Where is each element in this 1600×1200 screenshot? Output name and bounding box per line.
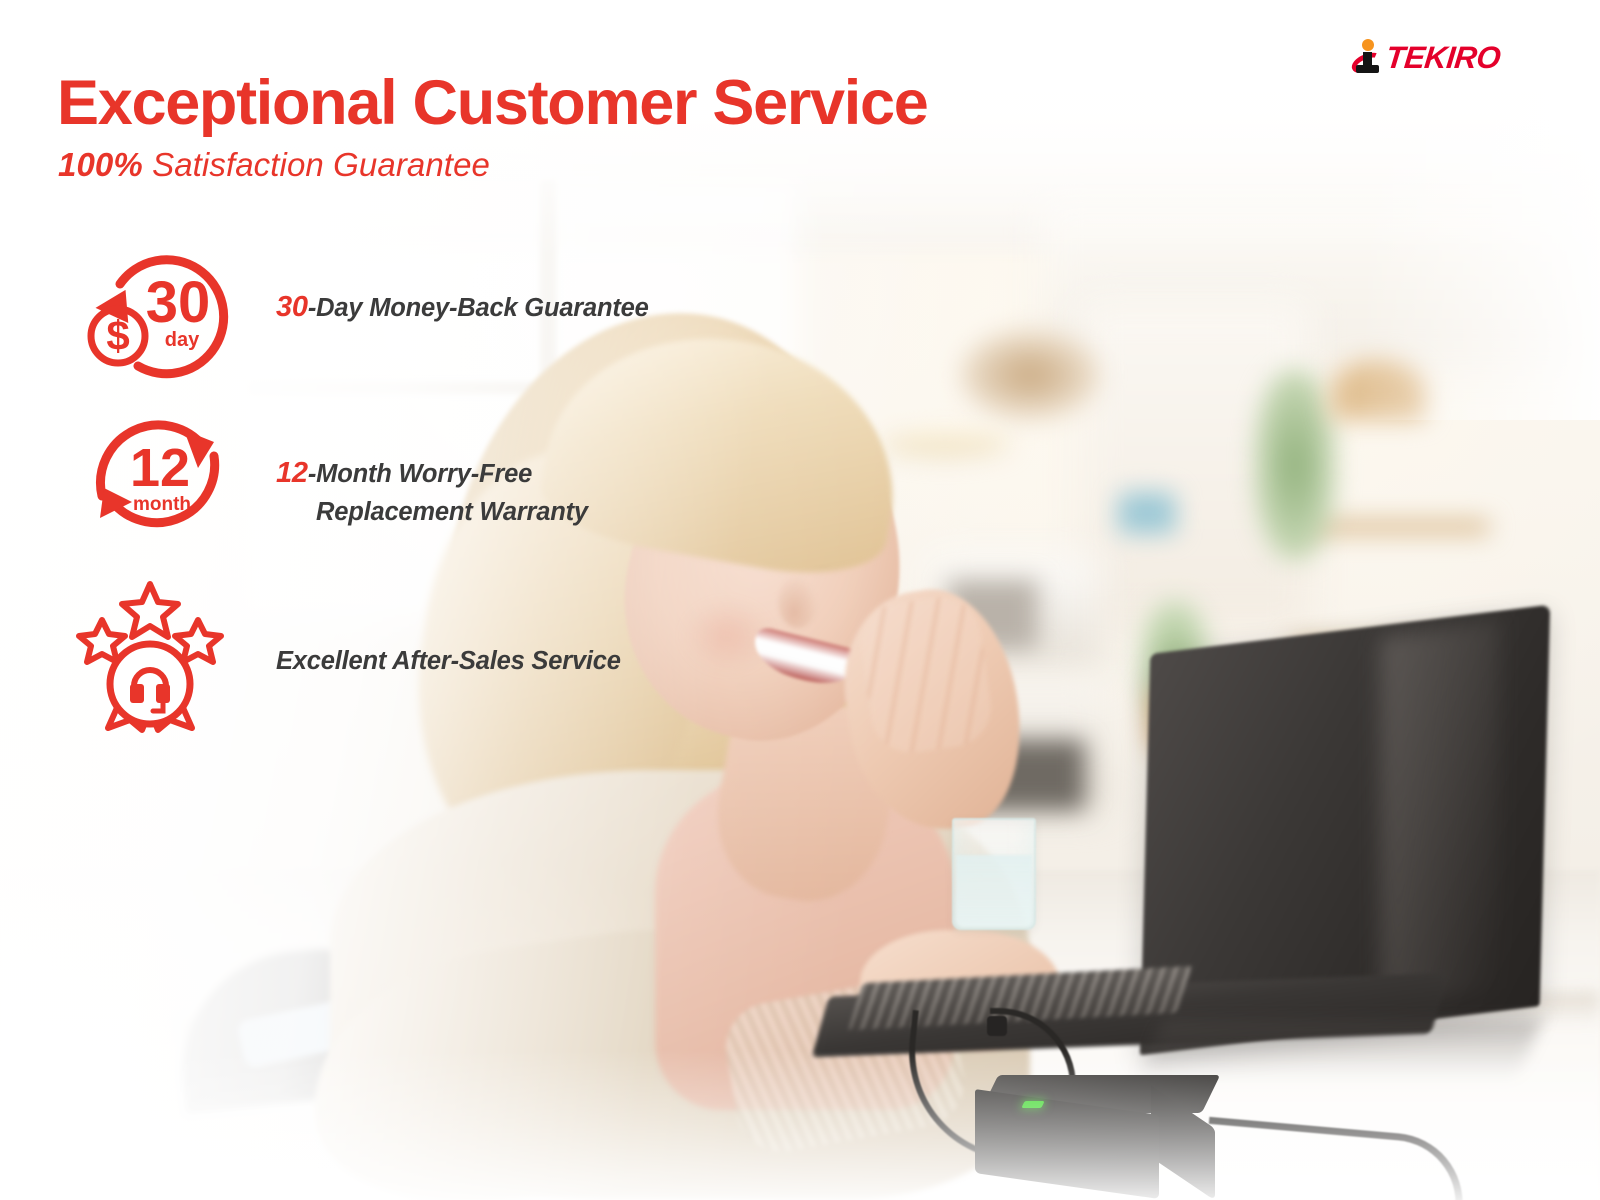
page-title: Exceptional Customer Service	[57, 72, 927, 135]
feature-label-warranty: 12-Month Worry-Free Replacement Warranty	[276, 452, 588, 531]
after-sales-service-badge-icon	[80, 580, 245, 730]
star-icon	[122, 584, 178, 637]
dollar-symbol: $	[106, 312, 129, 359]
icon-unit: month	[133, 494, 191, 515]
feature-highlight: 30	[276, 291, 308, 323]
brand-logo: TEKIRO	[1352, 38, 1500, 78]
icon-number: 12	[130, 438, 190, 498]
feature-text: -Day Money-Back Guarantee	[308, 294, 649, 322]
money-back-30-day-icon: $ 30 day	[80, 240, 245, 390]
feature-after-sales	[80, 580, 245, 730]
feature-text: -Month Worry-Free	[308, 460, 532, 488]
medal-circle	[110, 644, 190, 724]
headset-earcup-left	[130, 684, 144, 703]
logo-base	[1356, 65, 1379, 73]
feature-text: Excellent After-Sales Service	[276, 647, 621, 675]
headset-earcup-right	[156, 684, 170, 703]
feature-money-back: $ 30 day	[80, 240, 245, 390]
feature-warranty: 12 month	[80, 400, 245, 550]
content-layer: TEKIRO Exceptional Customer Service 100%…	[0, 0, 1600, 1200]
feature-label-money-back: 30-Day Money-Back Guarantee	[276, 286, 649, 328]
logo-stem	[1363, 52, 1372, 66]
icon-number: 30	[146, 270, 211, 335]
subtitle-rest: Satisfaction Guarantee	[143, 146, 490, 183]
subtitle-highlight: 100%	[58, 146, 143, 183]
feature-text-line2: Replacement Warranty	[276, 494, 588, 531]
logo-dot	[1362, 39, 1374, 51]
page-subtitle: 100% Satisfaction Guarantee	[58, 146, 490, 184]
logo-wordmark: TEKIRO	[1384, 40, 1502, 76]
replacement-warranty-12-month-icon: 12 month	[80, 400, 245, 550]
feature-label-after-sales: Excellent After-Sales Service	[276, 643, 621, 680]
icon-unit: day	[165, 329, 200, 351]
promo-banner: TEKIRO Exceptional Customer Service 100%…	[0, 0, 1600, 1200]
tekiro-i-mark-icon	[1352, 38, 1382, 78]
feature-highlight: 12	[276, 457, 308, 489]
